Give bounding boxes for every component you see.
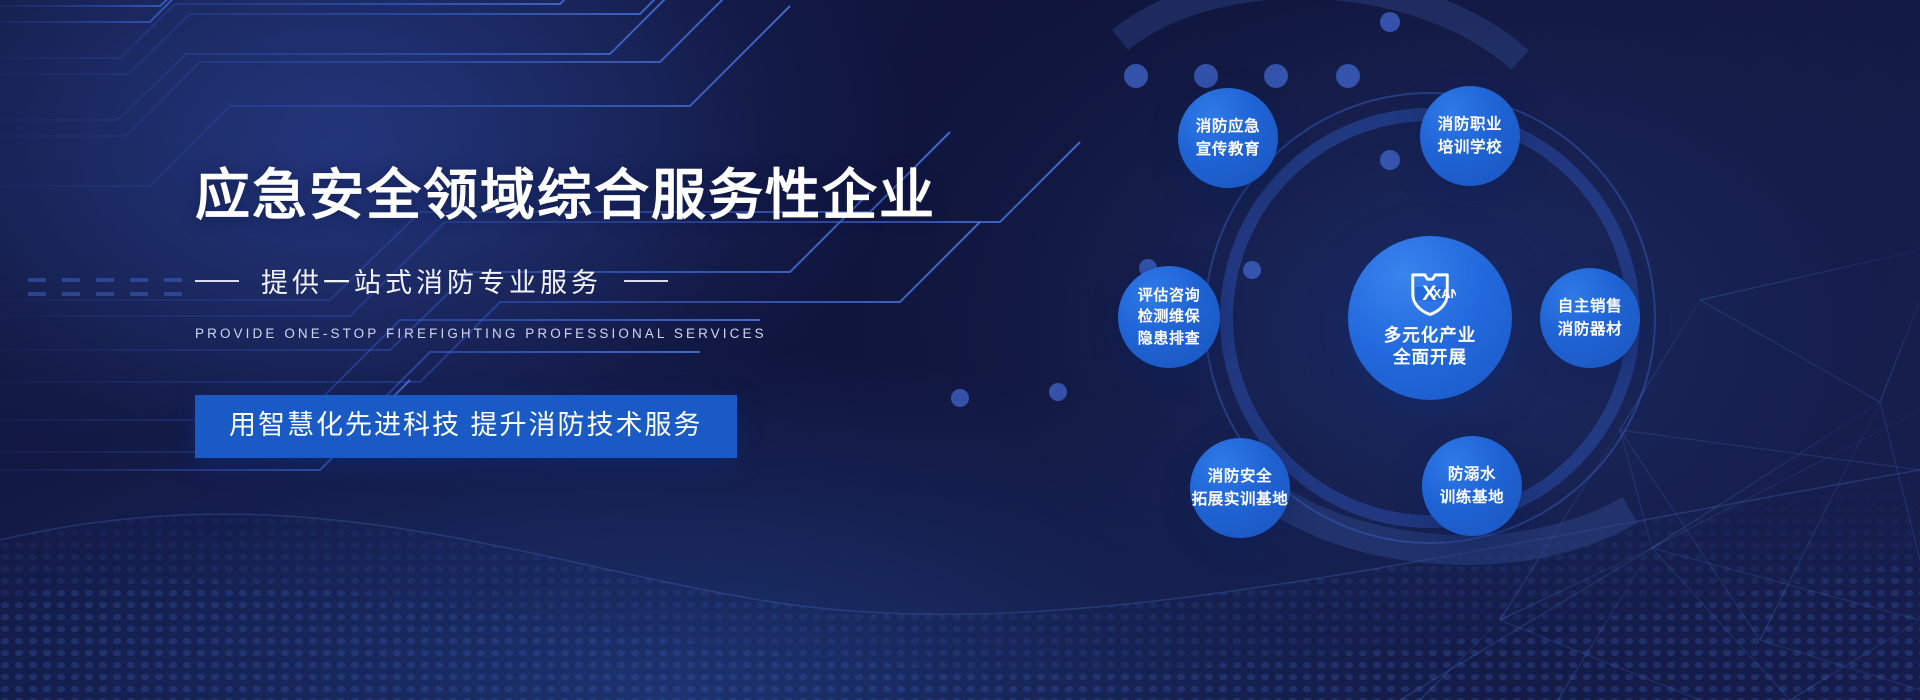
diagram-node-fire-vocational-school[interactable]: 消防职业 培训学校 (1420, 86, 1520, 186)
diagram-node-fire-emergency-publicity[interactable]: 消防应急 宣传教育 (1178, 88, 1278, 188)
node-line-1: 消防安全 (1208, 465, 1272, 488)
node-line-2: 宣传教育 (1196, 138, 1260, 161)
node-line-2: 训练基地 (1440, 486, 1504, 509)
node-line-1: 消防职业 (1438, 113, 1502, 136)
diagram-node-drowning-prevention-base[interactable]: 防溺水 训练基地 (1422, 436, 1522, 536)
center-line-1: 多元化产业 (1384, 324, 1477, 346)
node-line-2: 检测维保 (1138, 306, 1200, 327)
background-arcs (1120, 0, 1520, 60)
hero-subtitle-row: 提供一站式消防专业服务 (195, 261, 955, 300)
cta-button[interactable]: 用智慧化先进科技 提升消防技术服务 (195, 395, 737, 458)
dash-right-icon (624, 280, 668, 282)
hero-banner: 应急安全领域综合服务性企业 提供一站式消防专业服务 PROVIDE ONE-ST… (0, 0, 1920, 700)
diagram-node-safety-training-base[interactable]: 消防安全 拓展实训基地 (1190, 438, 1290, 538)
node-line-1: 防溺水 (1448, 463, 1496, 486)
circuit-ticks (28, 280, 182, 294)
center-line-2: 全面开展 (1384, 346, 1477, 368)
node-line-2: 消防器材 (1558, 318, 1622, 341)
node-line-1: 评估咨询 (1138, 285, 1200, 306)
node-line-2: 拓展实训基地 (1192, 488, 1289, 511)
diagram-center-node[interactable]: X XAN 多元化产业 全面开展 (1348, 236, 1512, 400)
shield-xan-logo-icon: X XAN (1404, 268, 1456, 318)
hero-subtitle: 提供一站式消防专业服务 (261, 261, 602, 300)
diagram-node-assessment-inspection[interactable]: 评估咨询 检测维保 隐患排查 (1118, 266, 1220, 368)
page-title: 应急安全领域综合服务性企业 (195, 168, 955, 223)
center-label: 多元化产业 全面开展 (1384, 324, 1477, 369)
node-line-2: 培训学校 (1438, 136, 1502, 159)
hero-copy: 应急安全领域综合服务性企业 提供一站式消防专业服务 PROVIDE ONE-ST… (195, 168, 955, 458)
diagram-node-equipment-sales[interactable]: 自主销售 消防器材 (1540, 268, 1640, 368)
node-line-1: 消防应急 (1196, 115, 1260, 138)
node-line-3: 隐患排查 (1138, 328, 1200, 349)
svg-text:XAN: XAN (1433, 286, 1456, 301)
services-circle-diagram: X XAN 多元化产业 全面开展 消防应急 宣传教育 消防职业 培训学校 自主销… (1130, 78, 1730, 618)
dash-left-icon (195, 280, 239, 282)
hero-subtitle-english: PROVIDE ONE-STOP FIREFIGHTING PROFESSION… (195, 326, 955, 341)
node-line-1: 自主销售 (1558, 295, 1622, 318)
